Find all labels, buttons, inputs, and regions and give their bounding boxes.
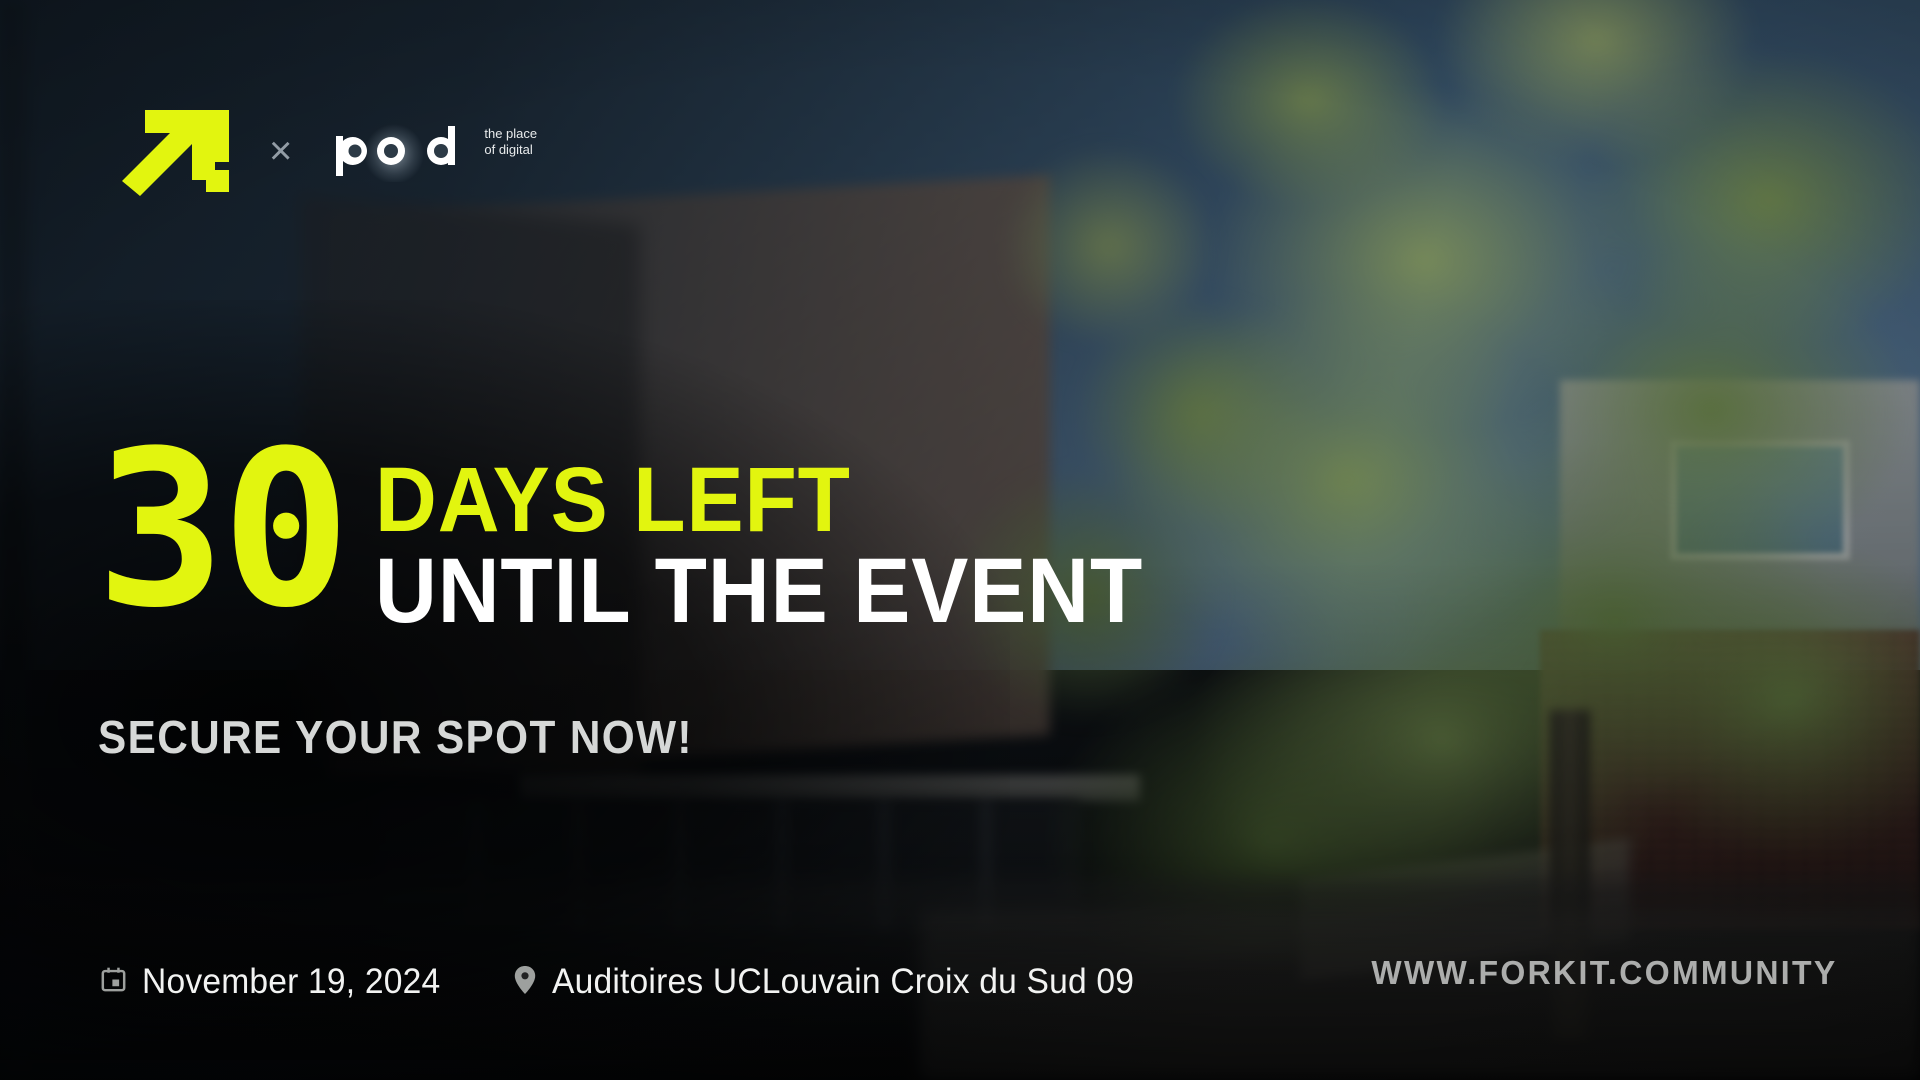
days-count: 30 bbox=[96, 446, 347, 614]
event-promo-banner: × bbox=[0, 0, 1920, 1080]
pod-tagline-line2: of digital bbox=[484, 142, 537, 158]
headline-until-event: UNTIL THE EVENT bbox=[375, 544, 1143, 640]
forkit-logo[interactable] bbox=[96, 100, 233, 201]
event-date-text: November 19, 2024 bbox=[142, 962, 440, 1002]
pod-wordmark-icon bbox=[328, 120, 480, 182]
website-url[interactable]: WWW.FORKIT.COMMUNITY bbox=[1372, 954, 1838, 992]
headline-days-left: DAYS LEFT bbox=[375, 456, 1143, 544]
pod-logo[interactable]: the place of digital bbox=[328, 120, 537, 182]
event-venue-text: Auditoires UCLouvain Croix du Sud 09 bbox=[552, 962, 1134, 1002]
event-venue-item: Auditoires UCLouvain Croix du Sud 09 bbox=[513, 962, 1158, 1002]
event-info-bar: November 19, 2024 Auditoires UCLouvain C… bbox=[100, 962, 1158, 1002]
logo-separator-x: × bbox=[269, 131, 292, 171]
event-date-item: November 19, 2024 bbox=[100, 962, 453, 1002]
logo-lockup: × bbox=[96, 100, 537, 201]
pod-tagline-line1: the place bbox=[484, 126, 537, 142]
headline-block: 30 DAYS LEFT UNTIL THE EVENT bbox=[96, 452, 1201, 640]
calendar-icon bbox=[100, 966, 127, 998]
cta-text: SECURE YOUR SPOT NOW! bbox=[98, 710, 693, 764]
forkit-arrow-icon bbox=[96, 100, 233, 196]
location-pin-icon bbox=[513, 965, 537, 1000]
